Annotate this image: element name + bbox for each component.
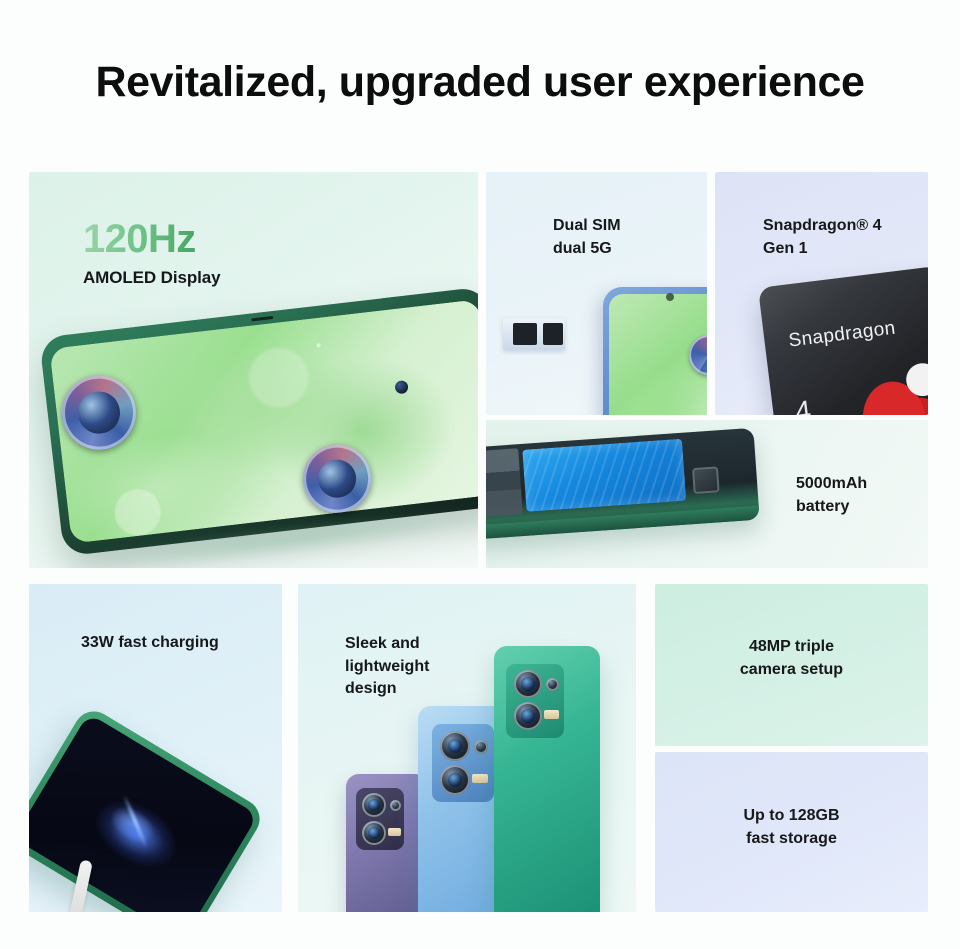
camera-flash-icon [472,774,488,783]
camera-lens-icon [440,731,470,761]
camera-lens-icon [362,821,386,845]
battery-line-1: 5000mAh [796,472,867,495]
camera-island [356,788,404,850]
phone-green-image [494,646,600,912]
camera-island [432,724,494,802]
camera-lens-icon [514,670,542,698]
battery-line-2: battery [796,495,867,518]
feature-card-fast-charging[interactable]: 33W fast charging [29,584,282,912]
battery-cell-icon [522,439,686,512]
camera-lens-icon [440,765,470,795]
storage-line-2: fast storage [655,827,928,850]
dual-sim-phone-image [603,287,707,415]
battery-caption: 5000mAh battery [796,472,867,518]
camera-lens-icon [514,702,542,730]
amoled-subhead: AMOLED Display [83,268,220,288]
charging-bolt-icon [122,794,148,849]
camera-lens-icon [390,800,401,811]
snapdragon-caption: Snapdragon® 4 Gen 1 [763,215,881,260]
feature-card-sleek-design[interactable]: Sleek and lightweight design [298,584,636,912]
storage-caption: Up to 128GB fast storage [655,804,928,850]
sim-tray-icon [503,318,565,350]
feature-card-battery[interactable]: 5000mAh battery [486,420,928,568]
dual-sim-caption: Dual SIM dual 5G [553,215,621,260]
amoled-headline: 120Hz [83,218,220,260]
phone-screen [29,713,258,912]
snapdragon-chip-image: Snapdragon 4 Gen 1 [758,266,928,415]
fast-charging-headline: 33W fast charging [81,634,219,652]
sleek-design-line-2: lightweight [345,656,429,679]
storage-line-1: Up to 128GB [655,804,928,827]
sleek-design-line-3: design [345,678,429,701]
phone-purple-image [346,774,428,912]
camera-flash-icon [388,828,401,836]
camera-lens-icon [474,740,488,754]
feature-card-dual-sim[interactable]: Dual SIM dual 5G [486,172,707,415]
feature-card-amoled-display[interactable]: 120Hz AMOLED Display [29,172,478,568]
camera-lens-icon [546,678,559,691]
dual-sim-line-2: dual 5G [553,238,621,261]
camera-lens-icon [362,793,386,817]
internal-chip-icon [692,466,720,494]
snapdragon-line-1: Snapdragon® 4 [763,215,881,238]
camera-line-2: camera setup [655,658,928,681]
fast-charging-caption: 33W fast charging [81,634,219,652]
snapdragon-logo-icon [854,354,928,415]
chip-number-label: 4 [793,395,812,415]
amoled-phone-image [39,286,478,568]
sleek-design-caption: Sleek and lightweight design [345,633,429,701]
camera-line-1: 48MP triple [655,635,928,658]
camera-caption: 48MP triple camera setup [655,635,928,681]
snapdragon-line-2: Gen 1 [763,238,881,261]
front-camera-punchhole-icon [666,293,674,301]
amoled-caption: 120Hz AMOLED Display [83,218,220,288]
earpiece-speaker-icon [251,316,273,322]
feature-card-storage[interactable]: Up to 128GB fast storage [655,752,928,912]
camera-island [506,664,564,738]
internal-components [486,448,523,517]
page-title: Revitalized, upgraded user experience [0,58,960,107]
feature-card-snapdragon[interactable]: Snapdragon® 4 Gen 1 Snapdragon 4 Gen 1 [715,172,928,415]
battery-phone-cutaway-image [486,428,760,540]
feature-card-camera[interactable]: 48MP triple camera setup [655,584,928,746]
chip-brand-label: Snapdragon [787,318,896,353]
camera-flash-icon [544,710,559,719]
dual-sim-line-1: Dual SIM [553,215,621,238]
charging-phone-image [29,704,267,912]
sleek-design-line-1: Sleek and [345,633,429,656]
